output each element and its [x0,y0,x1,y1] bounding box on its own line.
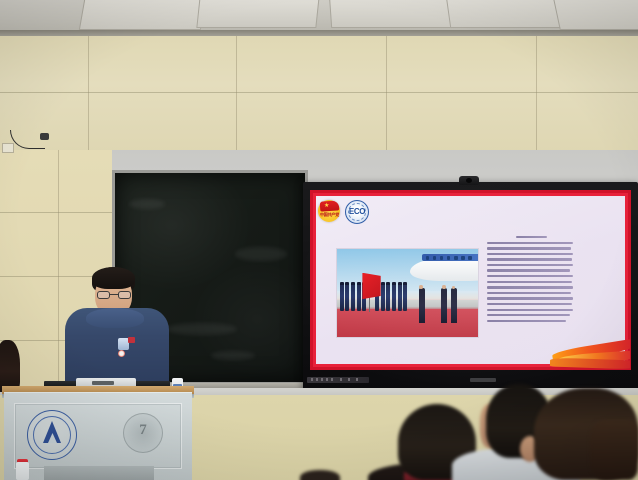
ceiling-tile [79,0,207,30]
ceiling-tile [446,0,570,28]
wall-plate [2,143,14,153]
hair-top [92,267,135,289]
pin-badge-red [128,337,135,343]
pin-badge-round [118,350,125,357]
audience-hair [590,420,638,480]
eco-logo-label: ECO [345,207,369,216]
classroom-scene: ★ 中国共产党 ECO [0,0,638,480]
wall-seam [536,36,537,154]
hood [86,308,144,328]
ceiling-tile [552,0,638,30]
wall-seam [0,212,112,213]
party-flag-icon [320,200,340,211]
wall-seam [88,36,89,154]
slide-body-text: 共同繁荣是一个时期中国 [487,236,573,341]
ceiling-tile [196,0,319,28]
anniversary-seal-label: 7 [123,422,163,439]
lectern-base [44,466,154,480]
display-brand-plate [470,378,496,382]
student-presenter [62,264,172,389]
wall-seam [386,36,387,154]
ceiling-tile [329,0,453,28]
audience-head [300,470,340,480]
wall-sensor-icon [40,133,49,140]
star-icon: ★ [324,203,329,209]
wall-seam [58,150,59,400]
glasses-icon [97,291,131,299]
upper-wall [0,36,638,156]
wall-seam [236,36,237,154]
ribbon-decoration [548,335,630,369]
webcam-lens-icon [466,178,472,183]
laptop-hinge [92,381,114,385]
person-left-edge [0,340,20,392]
state-visit-arrival-photo [336,248,479,338]
party-emblem-label: 中国共产党 [319,212,340,218]
wall-seam [0,92,638,93]
water-bottle[interactable] [16,462,29,480]
